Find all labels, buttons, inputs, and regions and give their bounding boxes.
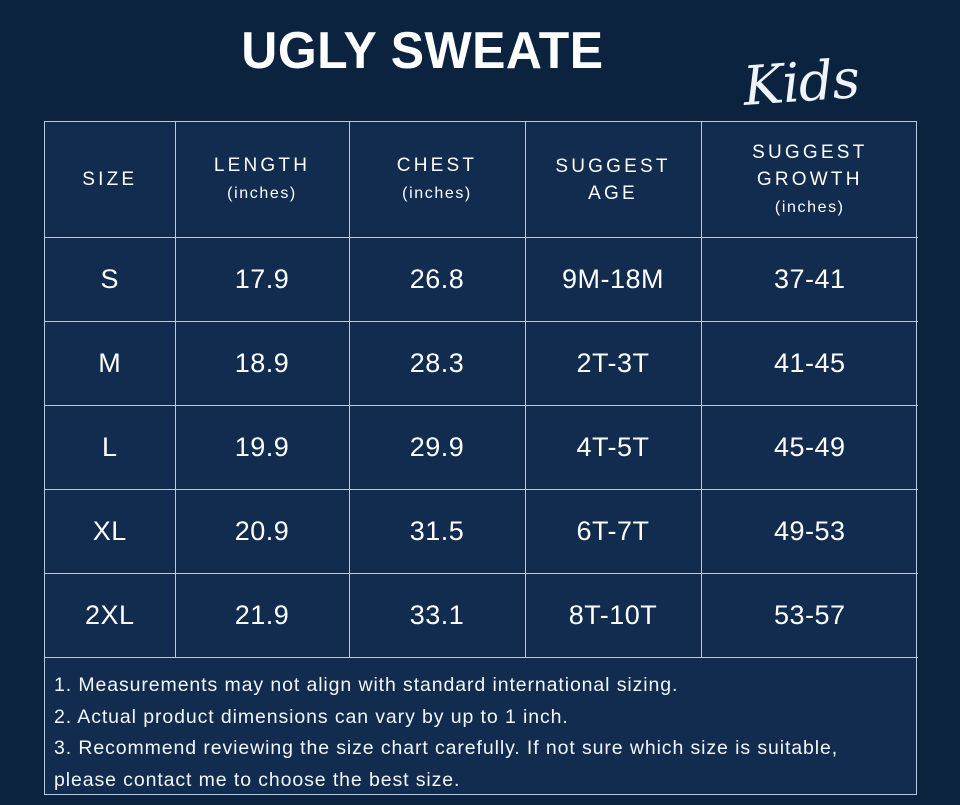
script-subtitle-kids: Kids (704, 45, 898, 120)
column-header-chest: CHEST (inches) (349, 122, 525, 238)
cell-size: M (45, 322, 175, 406)
cell-chest: 31.5 (349, 490, 525, 574)
table-header: SIZE LENGTH (inches) CHEST (inches) SUGG… (45, 122, 918, 238)
table-row: XL 20.9 31.5 6T-7T 49-53 (45, 490, 918, 574)
column-header-length-label: LENGTH (214, 155, 310, 176)
column-header-chest-unit: (inches) (350, 180, 525, 207)
cell-growth: 41-45 (701, 322, 918, 406)
cell-growth: 49-53 (701, 490, 918, 574)
note-item: 1. Measurements may not align with stand… (54, 670, 907, 702)
table-row: M 18.9 28.3 2T-3T 41-45 (45, 322, 918, 406)
cell-age: 2T-3T (525, 322, 701, 406)
cell-size: XL (45, 490, 175, 574)
cell-chest: 26.8 (349, 238, 525, 322)
column-header-length-unit: (inches) (176, 180, 349, 207)
table-body: S 17.9 26.8 9M-18M 37-41 M 18.9 28.3 2T-… (45, 238, 918, 658)
cell-length: 21.9 (175, 574, 349, 658)
column-header-growth-line1: SUGGEST (752, 142, 867, 163)
column-header-age-line2: AGE (588, 183, 638, 204)
cell-size: 2XL (45, 574, 175, 658)
cell-chest: 29.9 (349, 406, 525, 490)
column-header-size-label: SIZE (82, 169, 137, 190)
note-item: 2. Actual product dimensions can vary by… (54, 702, 907, 734)
table-row: L 19.9 29.9 4T-5T 45-49 (45, 406, 918, 490)
size-chart-panel: SIZE LENGTH (inches) CHEST (inches) SUGG… (44, 121, 917, 795)
column-header-suggest-growth: SUGGEST GROWTH (inches) (701, 122, 918, 238)
cell-length: 19.9 (175, 406, 349, 490)
cell-age: 9M-18M (525, 238, 701, 322)
cell-growth: 37-41 (701, 238, 918, 322)
cell-chest: 33.1 (349, 574, 525, 658)
column-header-length: LENGTH (inches) (175, 122, 349, 238)
table-row: 2XL 21.9 33.1 8T-10T 53-57 (45, 574, 918, 658)
cell-size: S (45, 238, 175, 322)
chart-header: UGLY SWEATE Kids (0, 0, 960, 121)
table-row: S 17.9 26.8 9M-18M 37-41 (45, 238, 918, 322)
size-table: SIZE LENGTH (inches) CHEST (inches) SUGG… (45, 122, 918, 658)
cell-length: 17.9 (175, 238, 349, 322)
table-header-row: SIZE LENGTH (inches) CHEST (inches) SUGG… (45, 122, 918, 238)
column-header-chest-label: CHEST (397, 155, 477, 176)
cell-chest: 28.3 (349, 322, 525, 406)
column-header-growth-line2: GROWTH (757, 169, 863, 190)
cell-size: L (45, 406, 175, 490)
cell-length: 18.9 (175, 322, 349, 406)
column-header-age-line1: SUGGEST (555, 156, 670, 177)
cell-growth: 45-49 (701, 406, 918, 490)
note-item: 3. Recommend reviewing the size chart ca… (54, 733, 907, 796)
cell-age: 8T-10T (525, 574, 701, 658)
column-header-growth-unit: (inches) (702, 194, 919, 221)
cell-age: 4T-5T (525, 406, 701, 490)
cell-growth: 53-57 (701, 574, 918, 658)
column-header-suggest-age: SUGGEST AGE (525, 122, 701, 238)
notes-section: 1. Measurements may not align with stand… (45, 658, 916, 796)
cell-length: 20.9 (175, 490, 349, 574)
cell-age: 6T-7T (525, 490, 701, 574)
column-header-size: SIZE (45, 122, 175, 238)
